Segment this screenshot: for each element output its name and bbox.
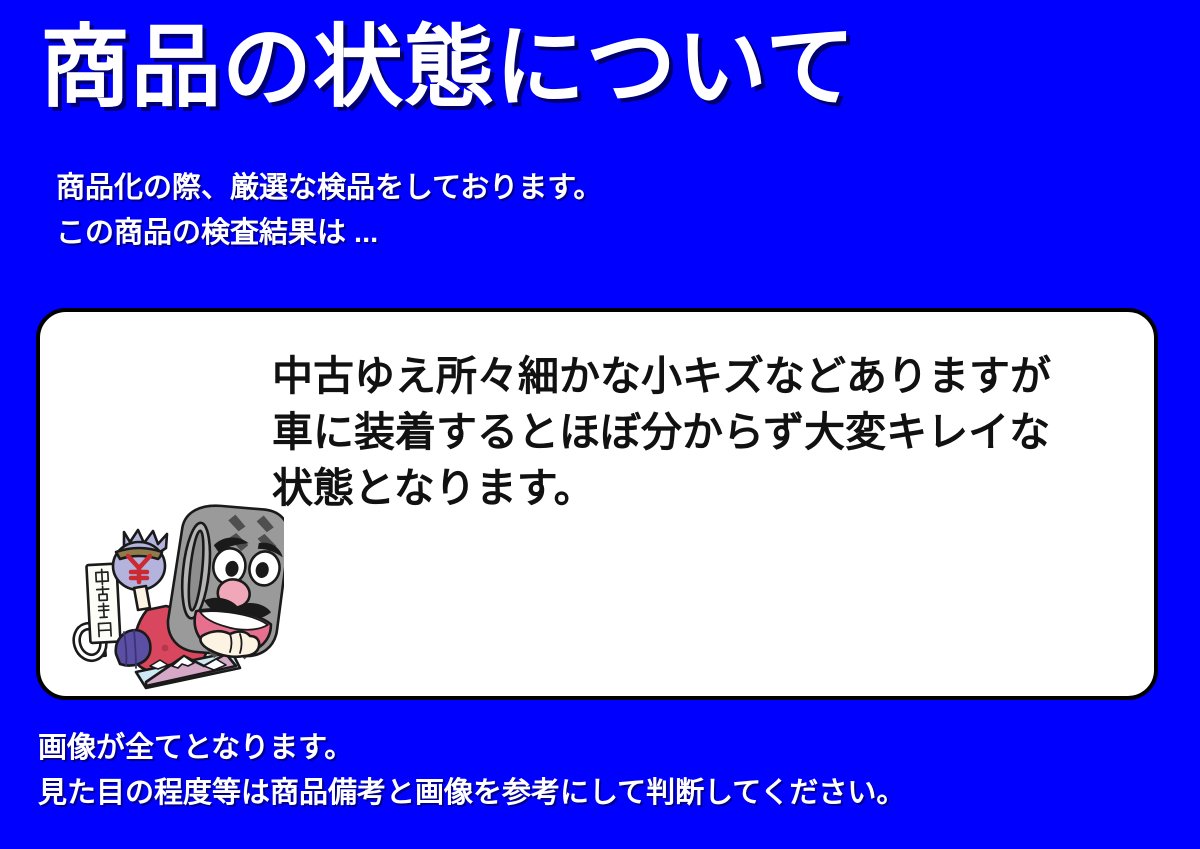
- tire-character-mascot-icon: [54, 490, 284, 690]
- notes-line-2: 見た目の程度等は商品備考と画像を参考にして判断してください。: [38, 771, 905, 816]
- money-bag-icon: [113, 530, 167, 610]
- inspection-result-line-3: 状態となります。: [272, 460, 1051, 516]
- subtitle-block: 商品化の際、厳選な検品をしております。 この商品の検査結果は ...: [56, 166, 602, 256]
- inspection-result-line-2: 車に装着するとほぼ分からず大変キレイな: [272, 404, 1051, 460]
- inspection-result-card: 中古ゆえ所々細かな小キズなどありますが 車に装着するとほぼ分からず大変キレイな …: [36, 308, 1158, 700]
- inspection-result-text: 中古ゆえ所々細かな小キズなどありますが 車に装着するとほぼ分からず大変キレイな …: [272, 348, 1051, 516]
- inspection-result-line-1: 中古ゆえ所々細かな小キズなどありますが: [272, 348, 1051, 404]
- subtitle-line-2: この商品の検査結果は ...: [56, 211, 602, 256]
- notes-line-1: 画像が全てとなります。: [38, 726, 905, 771]
- subtitle-line-1: 商品化の際、厳選な検品をしております。: [56, 166, 602, 211]
- page-root: 商品の状態について 商品化の際、厳選な検品をしております。 この商品の検査結果は…: [0, 0, 1200, 849]
- notes-block: 画像が全てとなります。 見た目の程度等は商品備考と画像を参考にして判断してくださ…: [38, 726, 905, 816]
- page-title: 商品の状態について: [40, 12, 856, 124]
